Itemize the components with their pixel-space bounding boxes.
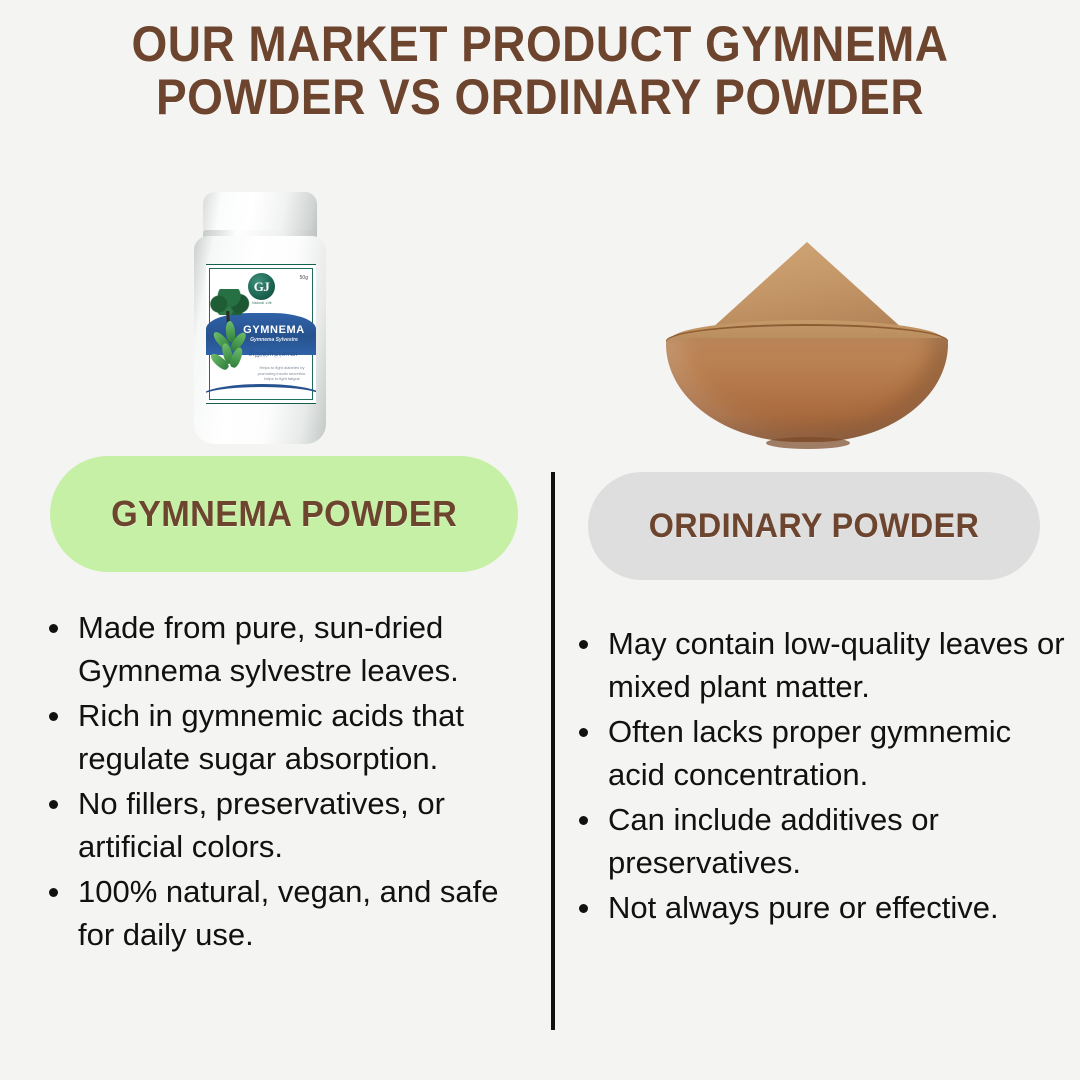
- column-divider: [551, 472, 555, 1030]
- label-description: Helps to fight diabetes by promoting ins…: [254, 365, 310, 382]
- page-title: OUR MARKET PRODUCT GYMNEMA POWDER VS ORD…: [0, 18, 1080, 124]
- bottle-label: GJ Natural Life 50g GYMNEMA Gymnema Sylv…: [206, 264, 316, 404]
- label-scientific-name: Gymnema Sylvestre: [206, 337, 316, 343]
- gj-brand-logo: GJ: [248, 273, 275, 300]
- label-product-name: GYMNEMA: [206, 324, 316, 336]
- bowl-base: [766, 437, 850, 449]
- tree-canopy: [210, 289, 250, 315]
- list-item: May contain low-quality leaves or mixed …: [568, 622, 1066, 708]
- list-item: 100% natural, vegan, and safe for daily …: [38, 870, 528, 956]
- ordinary-powder-heading-label: ORDINARY POWDER: [649, 507, 980, 546]
- label-tamil-name: சிறுகுரிஞ்சான்: [206, 349, 316, 359]
- list-item: Made from pure, sun-dried Gymnema sylves…: [38, 606, 528, 692]
- ordinary-powder-heading-pill: ORDINARY POWDER: [588, 472, 1040, 580]
- list-item: Often lacks proper gymnemic acid concent…: [568, 710, 1066, 796]
- bowl-glass-body: [666, 338, 948, 442]
- gymnema-powder-benefits-list: Made from pure, sun-dried Gymnema sylves…: [38, 606, 528, 958]
- list-item: No fillers, preservatives, or artificial…: [38, 782, 528, 868]
- list-item: Rich in gymnemic acids that regulate sug…: [38, 694, 528, 780]
- ordinary-powder-drawbacks-list: May contain low-quality leaves or mixed …: [568, 622, 1066, 931]
- list-item: Not always pure or effective.: [568, 886, 1066, 929]
- ordinary-powder-bowl-image: [662, 242, 952, 447]
- page-title-line-2: POWDER VS ORDINARY POWDER: [43, 71, 1037, 124]
- list-item: Can include additives or preservatives.: [568, 798, 1066, 884]
- gymnema-powder-heading-pill: GYMNEMA POWDER: [50, 456, 518, 572]
- label-bottom-arc: [206, 384, 316, 397]
- gymnema-powder-bottle-image: GJ Natural Life 50g GYMNEMA Gymnema Sylv…: [190, 192, 330, 444]
- label-net-weight: 50g: [300, 275, 308, 281]
- gymnema-powder-heading-label: GYMNEMA POWDER: [111, 493, 457, 535]
- page-title-line-1: OUR MARKET PRODUCT GYMNEMA: [43, 18, 1037, 71]
